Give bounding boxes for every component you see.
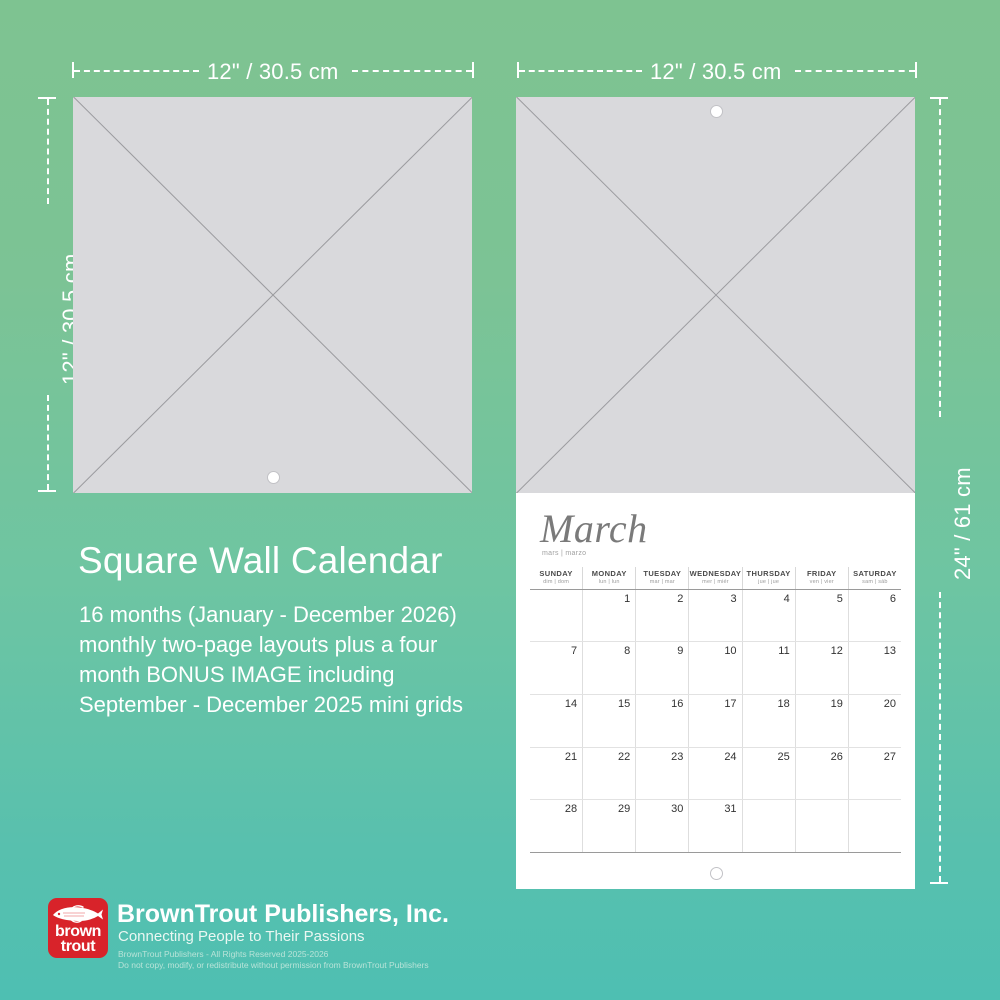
day-number: 2 xyxy=(677,593,683,605)
day-number: 8 xyxy=(624,645,630,657)
weekday-header-tuesday: TUESDAY mar | mar xyxy=(635,567,688,589)
weekday-name: TUESDAY xyxy=(636,570,688,578)
hole-punch xyxy=(710,867,723,880)
calendar-day-cell[interactable]: 4 xyxy=(742,590,795,642)
dash-right xyxy=(352,70,472,73)
calendar-day-cell[interactable] xyxy=(795,800,848,852)
calendar-day-cell[interactable]: 3 xyxy=(688,590,741,642)
calendar-day-cell[interactable]: 9 xyxy=(635,642,688,694)
tick-right xyxy=(915,62,917,78)
dash-left xyxy=(519,70,642,73)
calendar-day-cell[interactable]: 27 xyxy=(848,748,901,800)
publisher-tagline: Connecting People to Their Passions xyxy=(118,928,365,945)
dash-top xyxy=(939,99,942,417)
calendar-day-cell[interactable]: 1 xyxy=(582,590,635,642)
calendar-grid: SUNDAY dim | dom MONDAY lun | lun TUESDA… xyxy=(530,567,901,853)
weekday-header-sunday: SUNDAY dim | dom xyxy=(530,567,582,589)
calendar-week-row: 21 22 23 24 25 26 27 xyxy=(530,748,901,801)
description-line-3: month BONUS IMAGE including xyxy=(79,660,539,690)
dash-bottom xyxy=(47,395,50,490)
calendar-day-cell[interactable]: 2 xyxy=(635,590,688,642)
day-number: 30 xyxy=(671,803,683,815)
day-number: 12 xyxy=(831,645,843,657)
calendar-week-row: 28 29 30 31 xyxy=(530,800,901,853)
day-number: 19 xyxy=(831,698,843,710)
day-number: 16 xyxy=(671,698,683,710)
weekday-header-friday: FRIDAY ven | vier xyxy=(795,567,848,589)
calendar-day-cell[interactable]: 18 xyxy=(742,695,795,747)
copyright-notice: BrownTrout Publishers - All Rights Reser… xyxy=(118,949,429,971)
weekday-name: FRIDAY xyxy=(796,570,848,578)
weekday-header-wednesday: WEDNESDAY mer | miér xyxy=(688,567,741,589)
calendar-day-cell[interactable]: 10 xyxy=(688,642,741,694)
day-number: 25 xyxy=(777,751,789,763)
weekday-alt: sam | sáb xyxy=(849,579,901,586)
weekday-header-monday: MONDAY lun | lun xyxy=(582,567,635,589)
day-number: 10 xyxy=(724,645,736,657)
day-number: 6 xyxy=(890,593,896,605)
calendar-day-cell[interactable]: 11 xyxy=(742,642,795,694)
day-number: 18 xyxy=(777,698,789,710)
calendar-day-cell[interactable] xyxy=(742,800,795,852)
day-number: 27 xyxy=(884,751,896,763)
calendar-day-cell[interactable]: 19 xyxy=(795,695,848,747)
day-number: 11 xyxy=(778,645,789,657)
calendar-weekday-header-row: SUNDAY dim | dom MONDAY lun | lun TUESDA… xyxy=(530,567,901,590)
day-number: 20 xyxy=(884,698,896,710)
weekday-name: WEDNESDAY xyxy=(689,570,741,578)
publisher-name: BrownTrout Publishers, Inc. xyxy=(117,900,449,929)
description-line-4: September - December 2025 mini grids xyxy=(79,690,539,720)
dash-right xyxy=(795,70,915,73)
weekday-alt: mar | mar xyxy=(636,579,688,586)
calendar-day-cell[interactable]: 13 xyxy=(848,642,901,694)
day-number: 26 xyxy=(831,751,843,763)
calendar-day-cell[interactable]: 8 xyxy=(582,642,635,694)
day-number: 28 xyxy=(565,803,577,815)
weekday-header-thursday: THURSDAY jue | jue xyxy=(742,567,795,589)
calendar-day-cell[interactable]: 29 xyxy=(582,800,635,852)
weekday-name: SUNDAY xyxy=(530,570,582,578)
browntrout-logo[interactable]: brown trout xyxy=(48,898,108,958)
calendar-day-cell[interactable] xyxy=(848,800,901,852)
calendar-week-row: 14 15 16 17 18 19 20 xyxy=(530,695,901,748)
day-number: 29 xyxy=(618,803,630,815)
copyright-line-2: Do not copy, modify, or redistribute wit… xyxy=(118,960,429,971)
logo-wordmark: brown trout xyxy=(48,924,108,954)
calendar-month-title: March xyxy=(540,505,648,552)
dimension-label-top-right: 12" / 30.5 cm xyxy=(650,59,781,85)
calendar-day-cell[interactable]: 28 xyxy=(530,800,582,852)
calendar-day-cell[interactable]: 20 xyxy=(848,695,901,747)
description-line-2: monthly two-page layouts plus a four xyxy=(79,630,539,660)
day-number: 5 xyxy=(837,593,843,605)
logo-line-2: trout xyxy=(48,939,108,954)
calendar-day-cell[interactable]: 30 xyxy=(635,800,688,852)
hole-punch xyxy=(710,105,723,118)
calendar-week-row: 7 8 9 10 11 12 13 xyxy=(530,642,901,695)
day-number: 21 xyxy=(565,751,577,763)
calendar-grid-page: March mars | marzo SUNDAY dim | dom MOND… xyxy=(516,493,915,889)
description-line-1: 16 months (January - December 2026) xyxy=(79,600,539,630)
weekday-alt: mer | miér xyxy=(689,579,741,586)
calendar-day-cell[interactable]: 24 xyxy=(688,748,741,800)
product-description: 16 months (January - December 2026) mont… xyxy=(79,600,539,720)
weekday-name: MONDAY xyxy=(583,570,635,578)
calendar-week-row: 1 2 3 4 5 6 xyxy=(530,590,901,643)
calendar-day-cell[interactable]: 5 xyxy=(795,590,848,642)
day-number: 17 xyxy=(724,698,736,710)
dash-bottom xyxy=(939,592,942,882)
placeholder-cross-icon xyxy=(516,97,915,493)
dimension-label-right: 24" / 61 cm xyxy=(950,467,976,580)
weekday-alt: jue | jue xyxy=(743,579,795,586)
calendar-day-cell[interactable]: 22 xyxy=(582,748,635,800)
product-spec-sheet: 12" / 30.5 cm 12" / 30.5 cm 12" / 30.5 c… xyxy=(0,0,1000,1000)
day-number: 9 xyxy=(677,645,683,657)
weekday-header-saturday: SATURDAY sam | sáb xyxy=(848,567,901,589)
page-title: Square Wall Calendar xyxy=(78,540,443,582)
trout-fish-icon xyxy=(52,903,104,925)
weekday-name: THURSDAY xyxy=(743,570,795,578)
tick-bottom xyxy=(930,882,948,884)
calendar-day-cell[interactable]: 25 xyxy=(742,748,795,800)
calendar-image-panel-right xyxy=(516,97,915,493)
day-number: 31 xyxy=(724,803,736,815)
logo-line-1: brown xyxy=(48,924,108,939)
day-number: 3 xyxy=(730,593,736,605)
weekday-alt: ven | vier xyxy=(796,579,848,586)
calendar-day-cell[interactable]: 6 xyxy=(848,590,901,642)
day-number: 22 xyxy=(618,751,630,763)
day-number: 14 xyxy=(565,698,577,710)
calendar-day-cell[interactable]: 21 xyxy=(530,748,582,800)
tick-bottom xyxy=(38,490,56,492)
dimension-label-top-left: 12" / 30.5 cm xyxy=(207,59,338,85)
day-number: 4 xyxy=(784,593,790,605)
day-number: 15 xyxy=(618,698,630,710)
weekday-alt: dim | dom xyxy=(530,579,582,586)
copyright-line-1: BrownTrout Publishers - All Rights Reser… xyxy=(118,949,429,960)
calendar-image-panel-left xyxy=(73,97,472,493)
calendar-day-cell[interactable]: 31 xyxy=(688,800,741,852)
weekday-alt: lun | lun xyxy=(583,579,635,586)
calendar-day-cell[interactable]: 23 xyxy=(635,748,688,800)
day-number: 24 xyxy=(724,751,736,763)
weekday-name: SATURDAY xyxy=(849,570,901,578)
calendar-day-cell[interactable]: 12 xyxy=(795,642,848,694)
dash-left xyxy=(74,70,199,73)
day-number: 13 xyxy=(884,645,896,657)
placeholder-cross-icon xyxy=(73,97,472,493)
day-number: 23 xyxy=(671,751,683,763)
hole-punch xyxy=(267,471,280,484)
day-number: 1 xyxy=(624,593,630,605)
calendar-day-cell[interactable]: 17 xyxy=(688,695,741,747)
tick-right xyxy=(472,62,474,78)
calendar-day-cell[interactable]: 16 xyxy=(635,695,688,747)
calendar-day-cell[interactable]: 15 xyxy=(582,695,635,747)
day-number: 7 xyxy=(571,645,577,657)
calendar-month-subtitle: mars | marzo xyxy=(542,550,586,557)
dash-top xyxy=(47,99,50,204)
calendar-day-cell[interactable]: 26 xyxy=(795,748,848,800)
